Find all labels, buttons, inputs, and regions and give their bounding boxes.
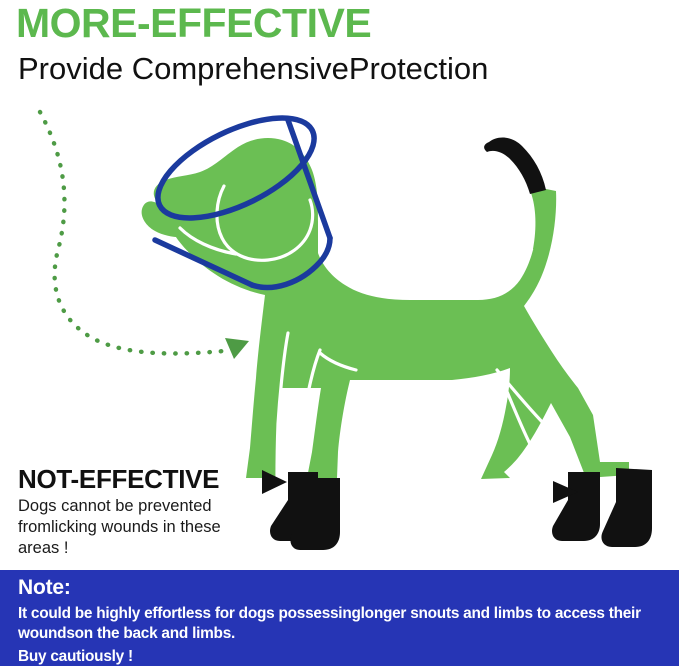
hind-paw-right <box>601 468 652 547</box>
dog-haunch-line <box>497 370 548 428</box>
cone-rim <box>143 97 328 238</box>
dog-paws <box>270 468 652 550</box>
protective-cone <box>143 97 330 287</box>
note-label: Note: <box>18 576 71 600</box>
dog-foreleg-line <box>299 350 320 480</box>
dotted-arrow-path <box>40 112 249 359</box>
dog-hindleg-line <box>502 380 552 477</box>
dotted-curve <box>40 112 224 354</box>
note-body: It could be highly effortless for dogs p… <box>18 604 666 666</box>
cone-left-edge <box>155 240 252 285</box>
dog-body-shape <box>154 138 629 479</box>
dog-detail-lines <box>180 186 552 480</box>
note-line-3: Buy cautiously ! <box>18 647 666 666</box>
dog-foreleg-line-2 <box>277 333 288 480</box>
dog-tail <box>484 137 550 252</box>
dog-tail-black-tip <box>484 137 546 194</box>
infographic-page: MORE-EFFECTIVE Provide ComprehensiveProt… <box>0 0 679 666</box>
not-effective-body: Dogs cannot be prevented fromlicking wou… <box>18 496 250 558</box>
dog-snout <box>142 201 186 237</box>
hind-paw-left <box>552 472 600 541</box>
cone-neck-opening <box>252 238 330 287</box>
dog-jaw-line <box>180 228 236 254</box>
black-arrow-front-paw-icon <box>262 470 287 494</box>
black-arrow-hind-paw-icon <box>553 481 578 503</box>
note-line-1: It could be highly effortless for dogs p… <box>18 604 666 624</box>
note-line-2: woundson the back and limbs. <box>18 624 666 644</box>
dog-silhouette <box>142 138 629 479</box>
page-subtitle: Provide ComprehensiveProtection <box>18 52 488 86</box>
cone-right-edge <box>288 120 330 238</box>
note-banner: Note: It could be highly effortless for … <box>0 570 679 666</box>
dog-tail-green-part <box>531 190 550 252</box>
dotted-arrow-head <box>225 338 249 359</box>
dog-illustration <box>0 0 679 666</box>
front-paw-left <box>270 472 318 541</box>
page-title: MORE-EFFECTIVE <box>16 2 371 45</box>
not-effective-title: NOT-EFFECTIVE <box>18 464 219 495</box>
dog-shoulder-line <box>320 353 356 370</box>
dog-ear-line <box>217 186 313 260</box>
front-paw-right <box>290 478 340 550</box>
